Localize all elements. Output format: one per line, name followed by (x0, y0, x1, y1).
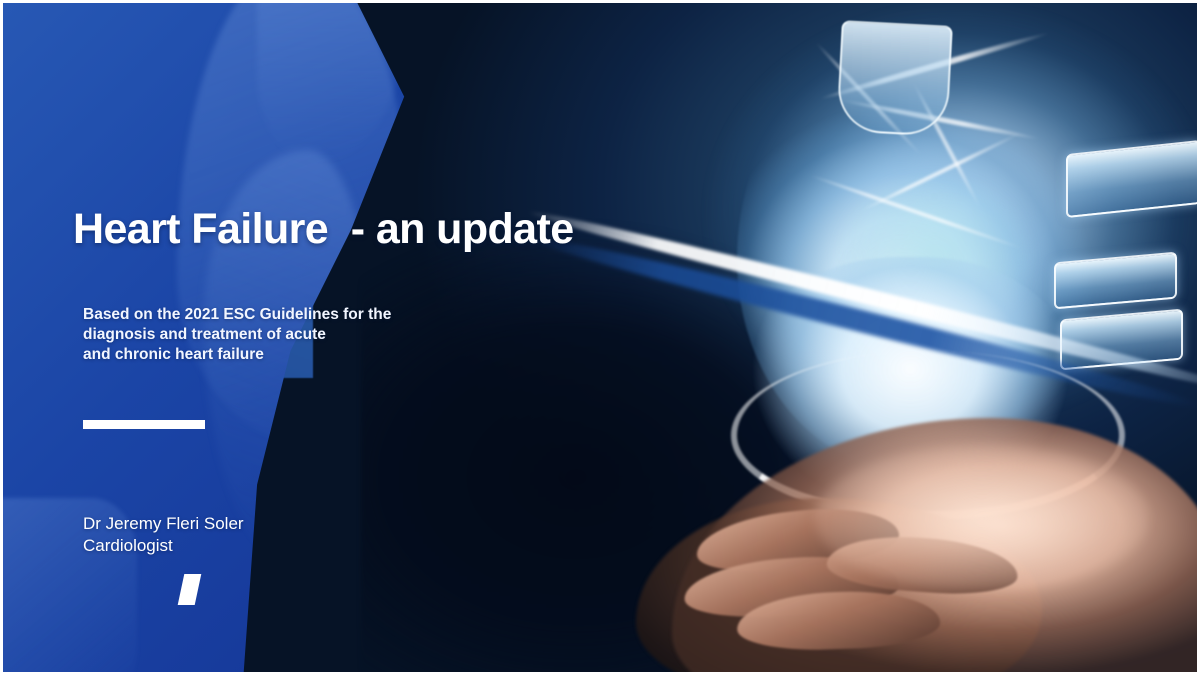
logo-slash-icon (178, 574, 202, 605)
slide-title: Heart Failure - an update (73, 205, 574, 253)
superior-vena-cava-tube (836, 20, 953, 137)
slide-subtitle: Based on the 2021 ESC Guidelines for the… (83, 305, 463, 365)
title-content: Heart Failure - an update Based on the 2… (3, 3, 672, 672)
presentation-slide: Heart Failure - an update Based on the 2… (0, 0, 1200, 675)
author-block: Dr Jeremy Fleri Soler Cardiologist (83, 513, 244, 557)
palm-highlight (815, 445, 1149, 592)
divider-bar (83, 420, 205, 429)
